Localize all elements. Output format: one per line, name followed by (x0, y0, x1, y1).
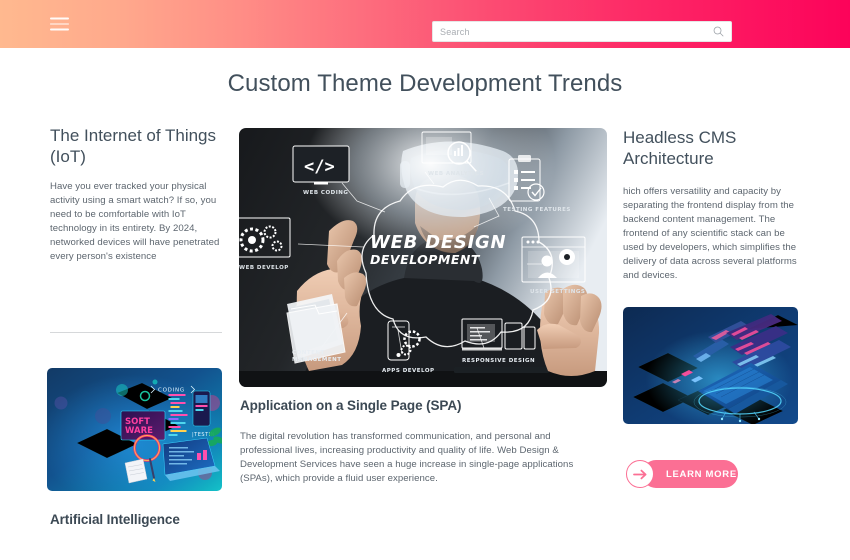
svg-text:CONTENT: CONTENT (292, 350, 325, 356)
svg-text:SOFT: SOFT (125, 417, 150, 427)
svg-text:MANAGEMENT: MANAGEMENT (292, 357, 341, 363)
search-icon[interactable] (713, 26, 724, 37)
svg-text:APPS DEVELOP: APPS DEVELOP (382, 368, 435, 374)
search-bar[interactable] (432, 21, 732, 42)
spa-body-text: The digital revolution has transformed c… (240, 430, 604, 486)
page-title: Custom Theme Development Trends (0, 70, 850, 98)
hamburger-line (50, 23, 69, 25)
headless-cms-body-text: hich offers versatility and capacity by … (623, 185, 799, 283)
headless-cms-heading: Headless CMS Architecture (623, 128, 799, 169)
artificial-intelligence-caption: Artificial Intelligence (50, 512, 180, 527)
svg-text:WEB ANALYTICS: WEB ANALYTICS (428, 171, 484, 177)
svg-text:WEB CODING: WEB CODING (303, 190, 348, 196)
svg-text:CODING: CODING (158, 388, 185, 394)
isometric-laptop-illustration (623, 307, 798, 424)
svg-text:WEB DESIGN: WEB DESIGN (370, 232, 506, 253)
learn-more-label: LEARN MORE (666, 469, 737, 480)
web-design-development-photo: WEB DESIGN DEVELOPMENT </> WEB CODING (239, 128, 607, 387)
svg-text:DEVELOPMENT: DEVELOPMENT (370, 252, 481, 267)
top-navigation-bar (0, 0, 850, 48)
iot-heading: The Internet of Things (IoT) (50, 126, 222, 167)
right-column: Headless CMS Architecture hich offers ve… (623, 128, 799, 283)
left-column: The Internet of Things (IoT) Have you ev… (50, 126, 222, 264)
svg-text:RESPONSIVE DESIGN: RESPONSIVE DESIGN (462, 358, 535, 364)
arrow-right-icon[interactable] (626, 460, 654, 488)
svg-text:WEB DEVELOP: WEB DEVELOP (239, 265, 289, 271)
left-column-divider (50, 332, 222, 333)
svg-text:</>: </> (304, 157, 335, 177)
learn-more-button[interactable]: LEARN MORE (626, 460, 737, 488)
hamburger-line (50, 18, 69, 20)
hamburger-line (50, 29, 69, 31)
svg-text:USER SETTINGS: USER SETTINGS (530, 289, 585, 295)
artificial-intelligence-illustration: CODING SOFT WARE | (47, 368, 222, 491)
svg-text:TESTING FEATURES: TESTING FEATURES (503, 207, 571, 213)
search-input[interactable] (440, 27, 713, 37)
spa-caption: Application on a Single Page (SPA) (240, 398, 461, 413)
iot-body-text: Have you ever tracked your physical acti… (50, 180, 222, 264)
hamburger-menu-icon[interactable] (50, 18, 69, 31)
